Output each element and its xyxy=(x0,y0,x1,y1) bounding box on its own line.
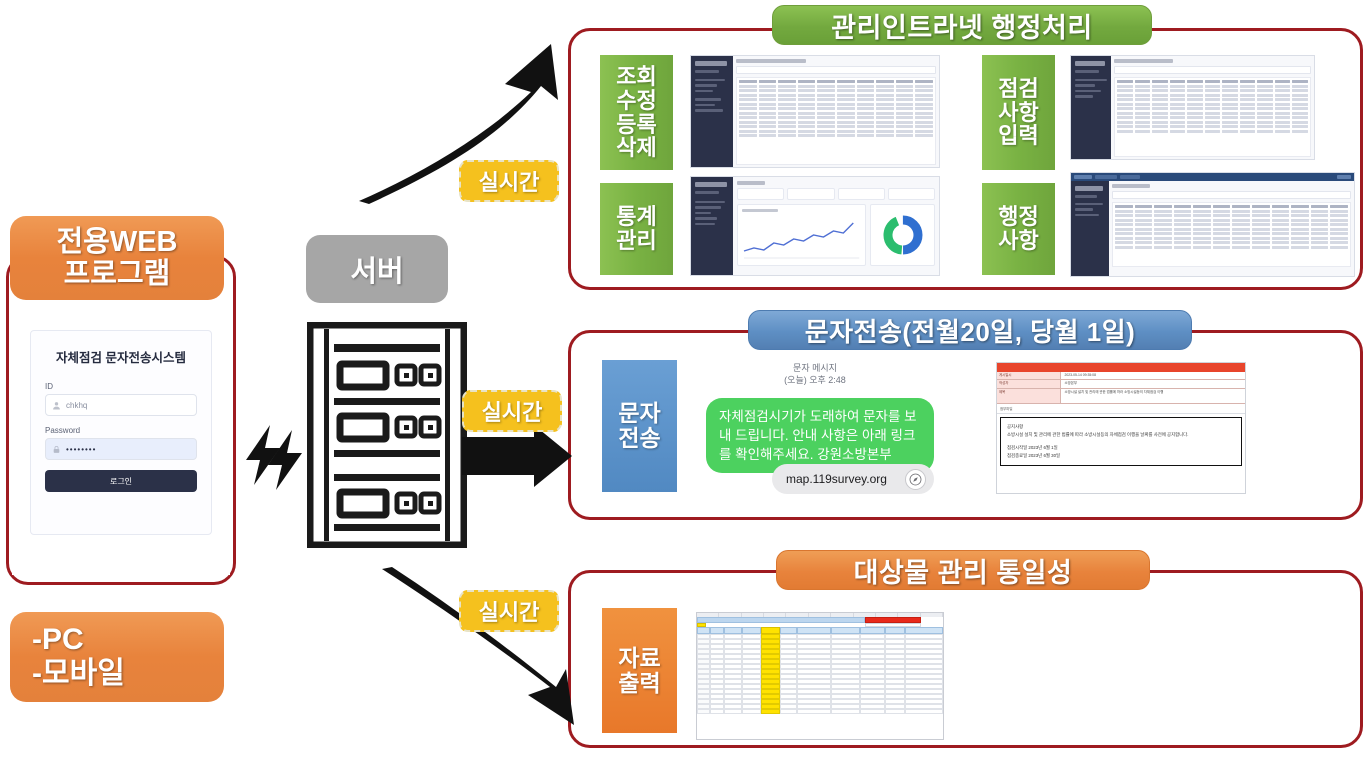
login-title: 자체점검 문자전송시스템 xyxy=(45,347,197,366)
banner-sms-send: 문자전송(전월20일, 당월 1일) xyxy=(748,310,1192,350)
realtime-badge-sms: 실시간 xyxy=(462,390,562,432)
server-label: 서버 xyxy=(306,235,448,303)
login-card: 자체점검 문자전송시스템 ID chkhq Password •••••••• … xyxy=(30,330,212,535)
label-line: 입력 xyxy=(998,124,1038,148)
doc-header-bar xyxy=(997,363,1245,372)
doc-row: 제목 소방시설 설치 및 관리에 관한 법률에 따라 소방시설등의 자체점검 이… xyxy=(997,389,1245,404)
label-line: 삭제 xyxy=(616,136,656,160)
sms-link-preview[interactable]: map.119survey.org xyxy=(772,464,934,494)
screenshot-admin-table-3 xyxy=(1070,172,1355,277)
doc-attach-label: 첨부파일 xyxy=(997,404,1245,414)
device-line-pc: -PC xyxy=(32,623,84,657)
spreadsheet-row xyxy=(697,709,943,714)
label-line: 출력 xyxy=(618,671,660,696)
label-line: 통계 xyxy=(616,205,656,229)
web-program-title: 전용WEB 프로그램 xyxy=(10,216,224,300)
panel-target-management xyxy=(568,570,1363,748)
label-line: 전송 xyxy=(618,426,660,451)
doc-row-key: 작성자 xyxy=(997,380,1061,387)
doc-row: 게시일시 2023-05-14 09:35:08 xyxy=(997,372,1245,380)
label-line: 점검 xyxy=(998,77,1038,101)
sms-meta-title: 문자 메시지 xyxy=(700,362,930,374)
label-sms-send: 문자 전송 xyxy=(602,360,677,492)
compass-icon xyxy=(905,469,926,490)
login-id-field[interactable]: chkhq xyxy=(45,394,197,416)
screenshot-dashboard-statistics xyxy=(690,176,940,276)
lock-icon xyxy=(52,445,61,454)
device-line-mobile: -모바일 xyxy=(32,657,125,691)
realtime-badge-target: 실시간 xyxy=(459,590,559,632)
sms-link-url: map.119survey.org xyxy=(786,472,887,486)
screenshot-admin-table-1 xyxy=(690,55,940,168)
spreadsheet-mock xyxy=(696,612,944,740)
doc-row: 작성자 소방본부 xyxy=(997,380,1245,388)
doc-body-title: 공지사항 xyxy=(1007,423,1235,431)
doc-row-key: 제목 xyxy=(997,389,1061,403)
login-screen-mock: 자체점검 문자전송시스템 ID chkhq Password •••••••• … xyxy=(12,300,230,575)
doc-row-value: 2023-05-14 09:35:08 xyxy=(1061,372,1245,379)
login-password-label: Password xyxy=(45,426,197,435)
label-line: 수정 xyxy=(616,89,656,113)
label-administrative-matters: 행정 사항 xyxy=(982,183,1055,275)
label-line: 사항 xyxy=(998,101,1038,125)
label-line: 사항 xyxy=(998,229,1038,253)
user-icon xyxy=(52,401,61,410)
arrow-to-sms-send xyxy=(462,425,572,487)
label-search-edit-register-delete: 조회 수정 등록 삭제 xyxy=(600,55,673,170)
label-line: 문자 xyxy=(618,401,660,426)
doc-row-value: 소방본부 xyxy=(1061,380,1245,387)
label-line: 관리 xyxy=(616,229,656,253)
realtime-badge-admin: 실시간 xyxy=(459,160,559,202)
spreadsheet-header-row xyxy=(697,627,943,634)
doc-body: 공지사항 소방시설 설치 및 관리에 관한 법률에 따라 소방시설등의 자체점검… xyxy=(1000,417,1242,466)
doc-body-text: 소방시설 설치 및 관리에 관한 법률에 따라 소방시설등의 자체점검 이행을 … xyxy=(1007,431,1235,439)
screenshot-admin-table-2 xyxy=(1070,55,1315,160)
web-program-title-line2: 프로그램 xyxy=(64,258,171,290)
banner-target-management: 대상물 관리 통일성 xyxy=(776,550,1150,590)
label-inspection-input: 점검 사항 입력 xyxy=(982,55,1055,170)
lightning-icon xyxy=(240,420,310,490)
login-submit-button[interactable]: 로그인 xyxy=(45,470,197,492)
web-program-title-line1: 전용WEB xyxy=(56,226,177,258)
doc-start-date: 점검시작일 2023년 6월 1일 xyxy=(1007,444,1235,452)
login-password-field[interactable]: •••••••• xyxy=(45,438,197,460)
doc-end-date: 점검종료일 2023년 6월 30일 xyxy=(1007,452,1235,460)
device-types-box: -PC -모바일 xyxy=(10,612,224,702)
login-id-label: ID xyxy=(45,382,197,391)
doc-row-value: 소방시설 설치 및 관리에 관한 법률에 따라 소방시설등의 자체점검 이행 xyxy=(1061,389,1245,403)
server-rack-icon xyxy=(307,322,467,548)
banner-admin-intranet: 관리인트라넷 행정처리 xyxy=(772,5,1152,45)
label-line: 등록 xyxy=(616,113,656,137)
notice-document-mock: 게시일시 2023-05-14 09:35:08 작성자 소방본부 제목 소방시… xyxy=(996,362,1246,494)
label-statistics-management: 통계 관리 xyxy=(600,183,673,275)
label-line: 자료 xyxy=(618,646,660,671)
sms-message-bubble: 자체점검시기가 도래하여 문자를 보내 드립니다. 안내 사항은 아래 링크를 … xyxy=(706,398,934,473)
label-line: 행정 xyxy=(998,205,1038,229)
login-password-value: •••••••• xyxy=(66,445,96,454)
doc-row-key: 게시일시 xyxy=(997,372,1061,379)
sms-meta-time: (오늘) 오후 2:48 xyxy=(700,374,930,386)
sms-meta: 문자 메시지 (오늘) 오후 2:48 xyxy=(700,362,930,386)
login-id-value: chkhq xyxy=(66,401,87,410)
label-line: 조회 xyxy=(616,65,656,89)
label-data-export: 자료 출력 xyxy=(602,608,677,733)
